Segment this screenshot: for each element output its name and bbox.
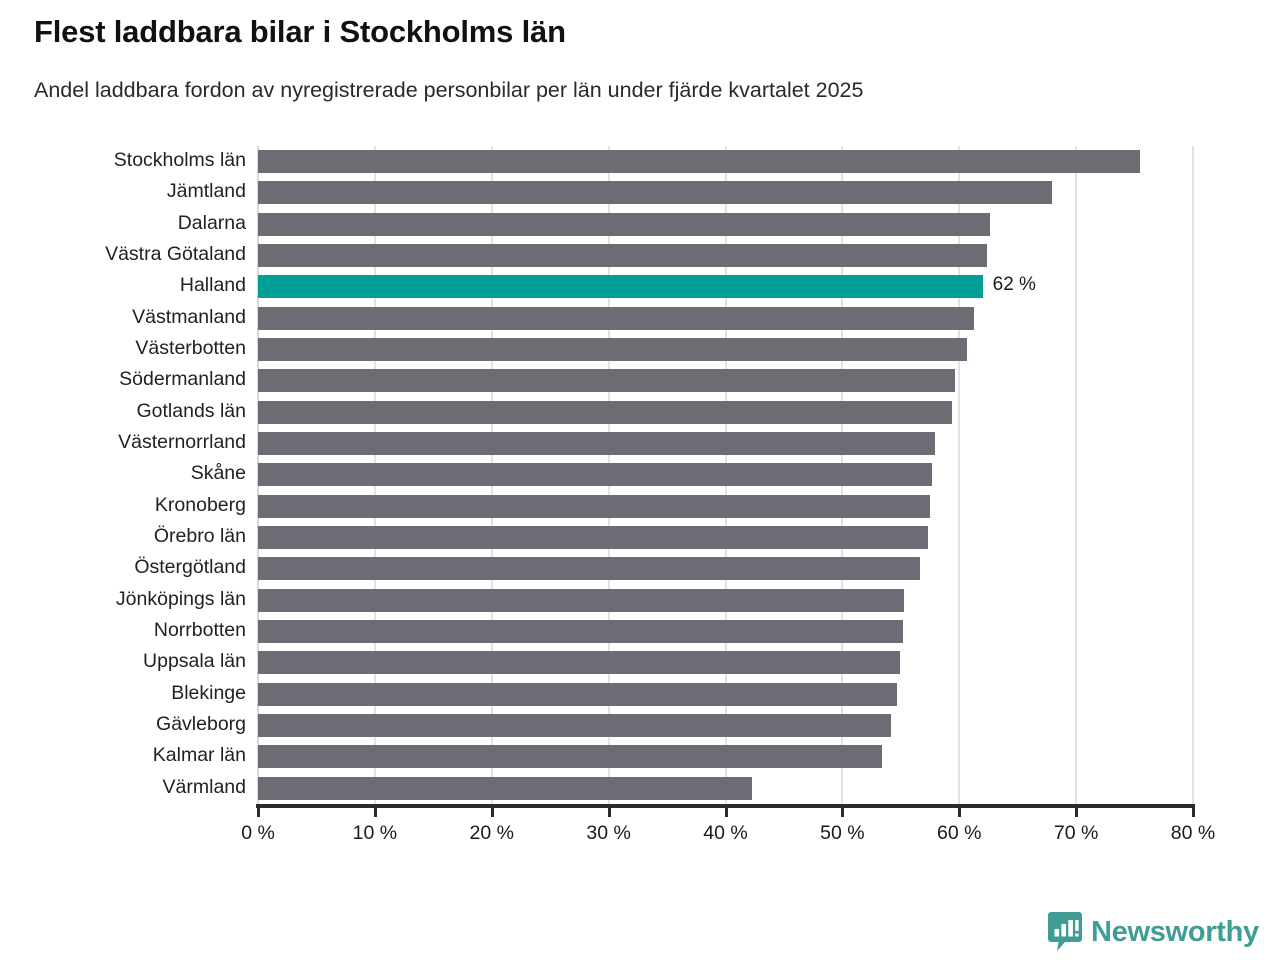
x-axis-tick-label: 30 %	[586, 822, 630, 845]
bar-row[interactable]	[258, 146, 1193, 177]
bar-row[interactable]	[258, 365, 1193, 396]
y-axis-label: Kronoberg	[0, 494, 246, 517]
bar[interactable]	[258, 369, 955, 392]
x-axis-tick-label: 20 %	[470, 822, 514, 845]
x-axis-tick	[257, 804, 260, 817]
x-axis-tick	[958, 804, 961, 817]
bar-row[interactable]	[258, 303, 1193, 334]
bar[interactable]	[258, 213, 990, 236]
bar-row[interactable]	[258, 491, 1193, 522]
x-axis-tick	[1075, 804, 1078, 817]
x-axis-tick	[374, 804, 377, 817]
page-title: Flest laddbara bilar i Stockholms län	[34, 14, 566, 50]
y-axis-category-labels: Stockholms länJämtlandDalarnaVästra Göta…	[0, 146, 246, 804]
bar-row[interactable]	[258, 522, 1193, 553]
bar-row[interactable]	[258, 773, 1193, 804]
bar-row[interactable]	[258, 553, 1193, 584]
plot-area: 62 %	[258, 146, 1193, 804]
bar[interactable]	[258, 526, 928, 549]
bar[interactable]	[258, 683, 897, 706]
bar[interactable]	[258, 777, 752, 800]
x-axis-tick-label: 60 %	[937, 822, 981, 845]
bar[interactable]	[258, 401, 952, 424]
bar-row[interactable]	[258, 428, 1193, 459]
bar-row[interactable]	[258, 616, 1193, 647]
x-axis-tick	[491, 804, 494, 817]
y-axis-label: Jönköpings län	[0, 588, 246, 611]
x-axis-tick-label: 40 %	[703, 822, 747, 845]
y-axis-label: Örebro län	[0, 525, 246, 548]
bar[interactable]	[258, 745, 882, 768]
y-axis-label: Halland	[0, 274, 246, 297]
bar[interactable]	[258, 620, 903, 643]
bar[interactable]	[258, 589, 904, 612]
y-axis-label: Västmanland	[0, 306, 246, 329]
x-axis-tick	[725, 804, 728, 817]
bar-row[interactable]	[258, 209, 1193, 240]
bar-row[interactable]	[258, 647, 1193, 678]
bar[interactable]	[258, 557, 920, 580]
y-axis-label: Värmland	[0, 776, 246, 799]
y-axis-label: Dalarna	[0, 212, 246, 235]
y-axis-label: Norrbotten	[0, 619, 246, 642]
y-axis-label: Västra Götaland	[0, 243, 246, 266]
y-axis-label: Jämtland	[0, 180, 246, 203]
x-axis-tick	[608, 804, 611, 817]
bar-row[interactable]	[258, 710, 1193, 741]
y-axis-label: Östergötland	[0, 556, 246, 579]
bar-value-label: 62 %	[993, 274, 1036, 296]
y-axis-label: Blekinge	[0, 682, 246, 705]
y-axis-label: Skåne	[0, 462, 246, 485]
bar-chart: Flest laddbara bilar i Stockholms län An…	[0, 0, 1280, 960]
y-axis-label: Uppsala län	[0, 650, 246, 673]
bar[interactable]	[258, 275, 983, 298]
bar[interactable]	[258, 463, 932, 486]
x-axis-tick	[841, 804, 844, 817]
logo-wordmark: Newsworthy	[1091, 916, 1259, 949]
x-axis-tick-label: 10 %	[353, 822, 397, 845]
bar-row[interactable]: 62 %	[258, 271, 1193, 302]
bar-row[interactable]	[258, 397, 1193, 428]
x-axis-tick-label: 80 %	[1171, 822, 1215, 845]
bar-row[interactable]	[258, 334, 1193, 365]
y-axis-label: Västerbotten	[0, 337, 246, 360]
y-axis-label: Kalmar län	[0, 744, 246, 767]
chart-subtitle: Andel laddbara fordon av nyregistrerade …	[34, 78, 863, 103]
bar[interactable]	[258, 714, 891, 737]
y-axis-label: Södermanland	[0, 368, 246, 391]
bar[interactable]	[258, 307, 974, 330]
bar-chart-speech-bubble-icon	[1048, 912, 1082, 952]
y-axis-label: Gotlands län	[0, 400, 246, 423]
bar-row[interactable]	[258, 240, 1193, 271]
newsworthy-logo: Newsworthy	[1048, 912, 1259, 952]
x-axis-tick-label: 0 %	[241, 822, 275, 845]
bar-row[interactable]	[258, 585, 1193, 616]
bar[interactable]	[258, 495, 930, 518]
x-axis-tick	[1192, 804, 1195, 817]
x-axis-tick-label: 70 %	[1054, 822, 1098, 845]
bar[interactable]	[258, 432, 935, 455]
bar-row[interactable]	[258, 177, 1193, 208]
x-axis-tick-label: 50 %	[820, 822, 864, 845]
y-axis-label: Västernorrland	[0, 431, 246, 454]
y-axis-label: Gävleborg	[0, 713, 246, 736]
bar-row[interactable]	[258, 679, 1193, 710]
bar[interactable]	[258, 244, 987, 267]
y-axis-label: Stockholms län	[0, 149, 246, 172]
bar-row[interactable]	[258, 741, 1193, 772]
bar[interactable]	[258, 651, 900, 674]
bar[interactable]	[258, 150, 1140, 173]
bar[interactable]	[258, 181, 1052, 204]
bar[interactable]	[258, 338, 967, 361]
bar-row[interactable]	[258, 459, 1193, 490]
